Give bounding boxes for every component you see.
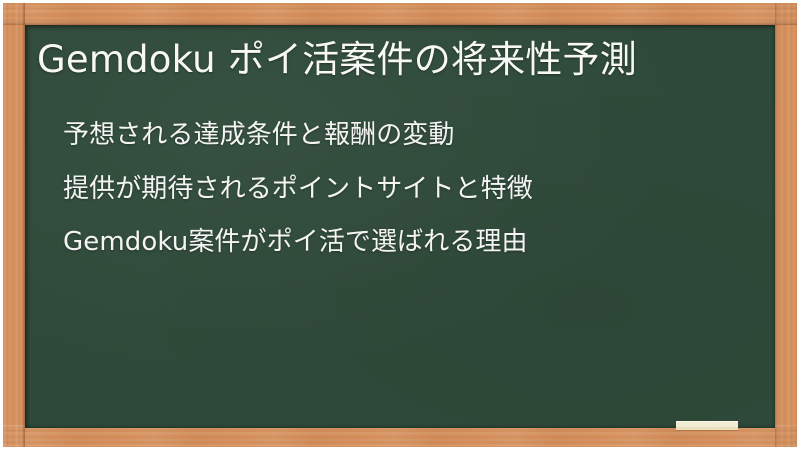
chalk-eraser-icon	[676, 421, 738, 430]
eraser-felt-strip	[676, 427, 738, 430]
list-item: 予想される達成条件と報酬の変動	[63, 121, 763, 150]
chalkboard-surface: Gemdoku ポイ活案件の将来性予測 予想される達成条件と報酬の変動 提供が期…	[25, 25, 775, 428]
frame-rail-top	[3, 3, 797, 25]
wooden-frame: Gemdoku ポイ活案件の将来性予測 予想される達成条件と報酬の変動 提供が期…	[3, 3, 797, 447]
wood-grain-texture	[3, 3, 25, 447]
list-item: 提供が期待されるポイントサイトと特徴	[63, 175, 763, 204]
slide-bullet-list: 予想される達成条件と報酬の変動 提供が期待されるポイントサイトと特徴 Gemdo…	[63, 121, 763, 282]
wood-grain-texture	[775, 3, 797, 447]
frame-stile-left	[3, 3, 25, 447]
list-item: Gemdoku案件がポイ活で選ばれる理由	[63, 228, 763, 257]
wood-grain-texture	[3, 3, 797, 25]
chalkboard-slide: Gemdoku ポイ活案件の将来性予測 予想される達成条件と報酬の変動 提供が期…	[0, 0, 800, 450]
slide-title: Gemdoku ポイ活案件の将来性予測	[37, 39, 763, 82]
frame-stile-right	[775, 3, 797, 447]
